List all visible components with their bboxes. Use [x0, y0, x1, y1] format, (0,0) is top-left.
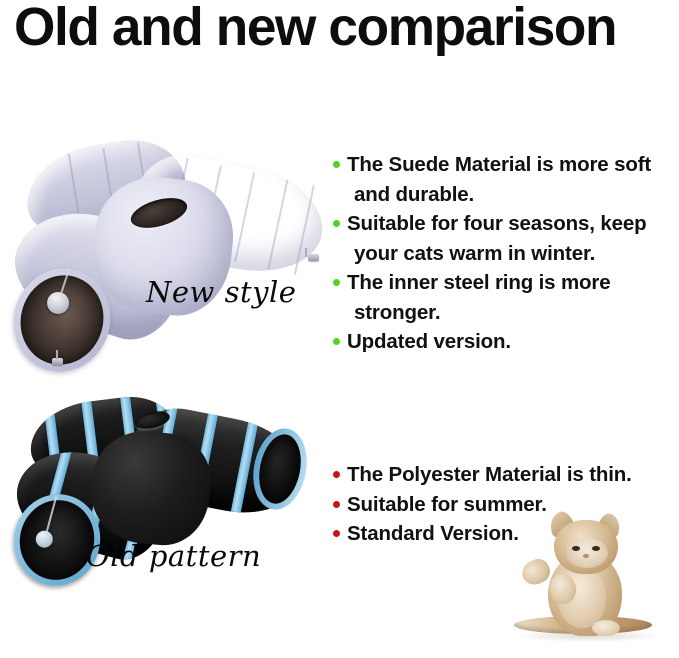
zipper-pull-front [52, 358, 63, 365]
feature-list-new-style: The Suede Material is more soft and dura… [333, 150, 679, 357]
feature-text-wrap: and durable. [347, 180, 679, 210]
product-photo-new-style [8, 138, 324, 380]
kitten-nose [583, 554, 589, 558]
bullet-dot-red [333, 501, 340, 508]
zipper-pull-right [308, 254, 319, 261]
comparison-infographic: Old and new comparison New style [0, 0, 679, 658]
zipper-tab-front [56, 350, 58, 359]
page-title: Old and new comparison [14, 0, 664, 58]
kitten-face [566, 538, 608, 568]
zipper-tab-right [305, 248, 307, 257]
list-item: Suitable for four seasons, keep your cat… [333, 209, 679, 268]
list-item: The inner steel ring is more stronger. [333, 268, 679, 327]
kitten-eye-right [592, 546, 600, 551]
list-item: Updated version. [333, 327, 679, 357]
bullet-dot-red [333, 530, 340, 537]
kitten-hind-paw [592, 620, 620, 636]
bullet-dot-green [333, 279, 340, 286]
list-item: The Suede Material is more soft and dura… [333, 150, 679, 209]
kitten-photo [506, 500, 674, 650]
kitten-eye-left [572, 546, 580, 551]
feature-text-wrap: stronger. [347, 298, 679, 328]
caption-new-style: New style [146, 275, 296, 309]
feature-text: Updated version. [347, 330, 511, 353]
feature-text: The inner steel ring is more [347, 271, 611, 294]
bullet-dot-green [333, 220, 340, 227]
feature-text: The Suede Material is more soft [347, 153, 651, 176]
list-item: The Polyester Material is thin. [333, 460, 679, 490]
bullet-dot-red [333, 471, 340, 478]
feature-text: The Polyester Material is thin. [347, 460, 679, 490]
feature-text-wrap: your cats warm in winter. [347, 239, 679, 269]
bullet-dot-green [333, 338, 340, 345]
caption-old-pattern: Old pattern [86, 539, 261, 573]
feature-text: Suitable for four seasons, keep [347, 212, 647, 235]
bullet-dot-green [333, 161, 340, 168]
